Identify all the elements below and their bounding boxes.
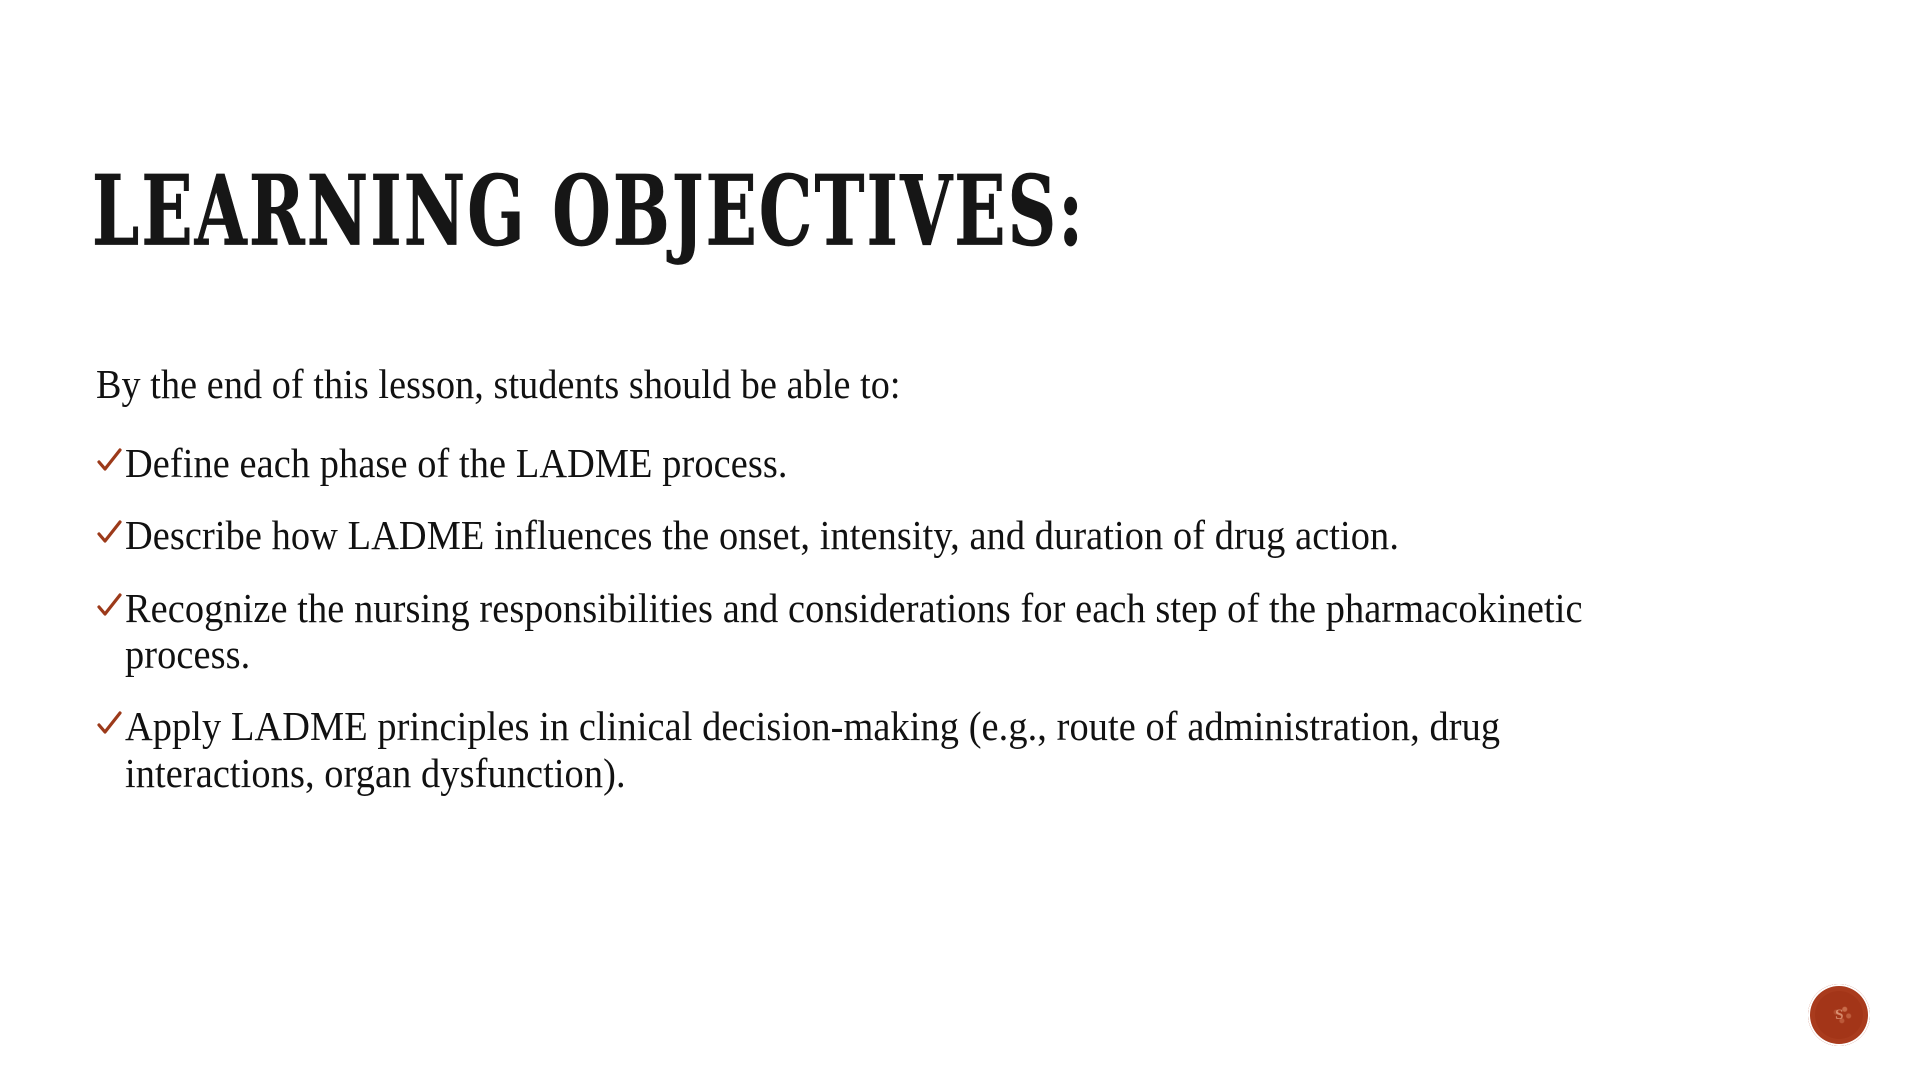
intro-text: By the end of this lesson, students shou… [96, 359, 1714, 409]
check-mark-icon [96, 707, 123, 747]
page-title: LEARNING OBJECTIVES: [92, 163, 1486, 260]
list-item: Apply LADME principles in clinical decis… [96, 703, 1836, 796]
list-item-label: Define each phase of the LADME process. [125, 440, 1658, 486]
check-mark-icon [96, 589, 123, 629]
list-item: Describe how LADME influences the onset,… [96, 512, 1836, 558]
title-block: LEARNING OBJECTIVES: [92, 108, 1792, 300]
seal-inner: S [1815, 991, 1863, 1039]
objectives-list: Define each phase of the LADME process. … [96, 440, 1836, 796]
list-item-label: Recognize the nursing responsibilities a… [125, 585, 1658, 678]
seal-monogram: S [1815, 991, 1863, 1039]
check-mark-icon [96, 444, 123, 484]
list-item-label: Apply LADME principles in clinical decis… [125, 703, 1658, 796]
list-item-label: Describe how LADME influences the onset,… [125, 512, 1658, 558]
circular-seal-logo-icon: S [1808, 984, 1870, 1046]
list-item: Recognize the nursing responsibilities a… [96, 585, 1836, 678]
content-block: By the end of this lesson, students shou… [96, 318, 1836, 796]
slide-canvas: LEARNING OBJECTIVES: By the end of this … [0, 0, 1920, 1080]
list-item: Define each phase of the LADME process. [96, 440, 1836, 486]
check-mark-icon [96, 516, 123, 556]
